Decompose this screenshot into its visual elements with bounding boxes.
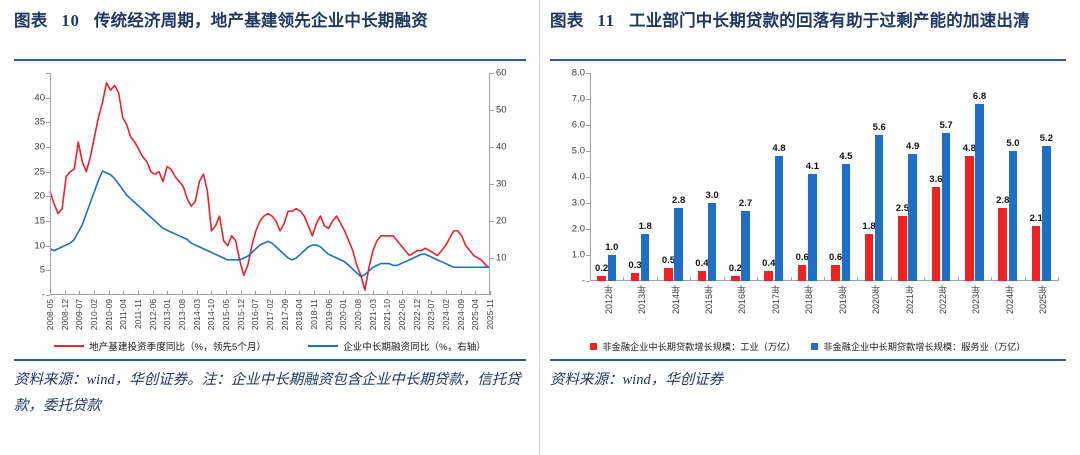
right-x-tick-label: 2020年 bbox=[869, 285, 882, 314]
right-legend-label: 非金融企业中长期贷款增长规模：工业（万亿） bbox=[602, 339, 795, 353]
left-x-tick bbox=[255, 291, 256, 295]
left-title-text: 传统经济周期，地产基建领先企业中长期融资 bbox=[94, 11, 428, 30]
left-x-tick-label: 2022-05 bbox=[397, 299, 407, 330]
bar-value-label: 0.6 bbox=[829, 252, 842, 263]
left-x-tick-label: 2016-07 bbox=[250, 299, 260, 330]
left-x-tick-group: 2008-052008-122009-072010-022010-092011-… bbox=[50, 295, 490, 337]
left-x-tick bbox=[109, 291, 110, 295]
left-y2-tick bbox=[490, 73, 494, 74]
left-y-tick bbox=[46, 221, 50, 222]
left-x-tick bbox=[490, 291, 491, 295]
right-y-tick bbox=[586, 229, 590, 230]
bar-value-label: 5.2 bbox=[1040, 133, 1053, 144]
right-x-tick-label: 2014年 bbox=[669, 285, 682, 314]
left-x-tick-label: 2025-11 bbox=[485, 299, 495, 330]
left-x-tick bbox=[299, 291, 300, 295]
table-bar-services bbox=[908, 154, 917, 281]
right-x-tick-group: 2012年2013年2014年2015年2016年2017年2018年2019年… bbox=[590, 281, 1058, 337]
left-x-tick bbox=[358, 291, 359, 295]
right-x-tick bbox=[791, 277, 792, 281]
right-y-tick bbox=[586, 73, 590, 74]
right-y-tick-label: 1.0 bbox=[572, 250, 585, 261]
bar-value-label: 1.8 bbox=[862, 221, 875, 232]
left-y-tick-label: 25 bbox=[34, 166, 45, 177]
right-y-tick bbox=[586, 203, 590, 204]
left-series-line-1 bbox=[50, 171, 490, 276]
right-x-tick bbox=[623, 277, 624, 281]
right-x-tick bbox=[724, 277, 725, 281]
right-y-tick-label: 6.0 bbox=[572, 120, 585, 131]
left-x-tick bbox=[446, 291, 447, 295]
right-x-tick-label: 2023年 bbox=[969, 285, 982, 314]
right-x-tick bbox=[757, 277, 758, 281]
bar-value-label: 2.5 bbox=[896, 203, 909, 214]
left-x-tick bbox=[314, 291, 315, 295]
left-x-tick-label: 2017-09 bbox=[280, 299, 290, 330]
left-x-tick-label: 2018-04 bbox=[294, 299, 304, 330]
right-y-tick bbox=[586, 125, 590, 126]
left-source-note: 资料来源：wind，华创证券。注：企业中长期融资包含企业中长期贷款，信托贷款，委… bbox=[14, 361, 526, 419]
table-bar-services bbox=[775, 156, 784, 281]
left-x-tick-label: 2011-04 bbox=[118, 299, 128, 330]
left-x-tick bbox=[197, 291, 198, 295]
left-x-tick-label: 2014-10 bbox=[206, 299, 216, 330]
table-bar-industry bbox=[932, 187, 941, 281]
left-y-tick-label: 40 bbox=[34, 92, 45, 103]
left-y-tick-label: 5 bbox=[40, 265, 45, 276]
bar-value-label: 0.6 bbox=[796, 252, 809, 263]
left-legend-item-0: 地产基建投资季度同比（%，领先5个月） bbox=[54, 339, 266, 353]
bar-value-label: 0.2 bbox=[729, 263, 742, 274]
left-x-tick bbox=[417, 291, 418, 295]
left-x-tick-label: 2023-07 bbox=[426, 299, 436, 330]
left-y-tick bbox=[46, 122, 50, 123]
left-x-tick-label: 2015-12 bbox=[236, 299, 246, 330]
right-y-tick-label: 3.0 bbox=[572, 198, 585, 209]
left-x-tick-label: 2008-12 bbox=[60, 299, 70, 330]
left-x-tick bbox=[153, 291, 154, 295]
bar-value-label: 0.4 bbox=[762, 258, 775, 269]
right-x-tick bbox=[1058, 277, 1059, 281]
left-x-tick bbox=[373, 291, 374, 295]
right-y-tick-label: 8.0 bbox=[572, 68, 585, 79]
left-x-tick-label: 2024-09 bbox=[456, 299, 466, 330]
bar-value-label: 5.6 bbox=[873, 122, 886, 133]
right-x-tick-label: 2018年 bbox=[802, 285, 815, 314]
left-x-tick-label: 2020-08 bbox=[353, 299, 363, 330]
left-y-tick bbox=[46, 196, 50, 197]
left-y2-tick bbox=[490, 258, 494, 259]
left-x-tick-label: 2022-12 bbox=[412, 299, 422, 330]
table-bar-industry bbox=[898, 216, 907, 281]
legend-square-swatch bbox=[590, 343, 597, 350]
left-y2-tick-label: 20 bbox=[496, 215, 507, 226]
right-bar-chart-plot: -1.02.03.04.05.06.07.08.02012年2013年2014年… bbox=[590, 73, 1058, 281]
left-x-tick-label: 2008-05 bbox=[45, 299, 55, 330]
bar-value-label: 4.1 bbox=[806, 161, 819, 172]
left-y-tick-label: 15 bbox=[34, 215, 45, 226]
left-line-chart-svg bbox=[50, 73, 490, 295]
right-chart-legend: 非金融企业中长期贷款增长规模：工业（万亿）非金融企业中长期贷款增长规模：服务业（… bbox=[550, 339, 1066, 353]
left-title-divider bbox=[14, 59, 526, 61]
right-y-tick-label: 7.0 bbox=[572, 94, 585, 105]
table-bar-services bbox=[975, 104, 984, 281]
left-series-line-0 bbox=[50, 83, 490, 290]
table-bar-industry bbox=[597, 276, 606, 281]
left-x-tick bbox=[343, 291, 344, 295]
table-bar-services bbox=[608, 255, 617, 281]
right-chart-area: -1.02.03.04.05.06.07.08.02012年2013年2014年… bbox=[550, 67, 1066, 337]
left-x-tick bbox=[65, 291, 66, 295]
table-bar-services bbox=[1042, 146, 1051, 281]
right-x-tick-label: 2021年 bbox=[903, 285, 916, 314]
left-y-tick bbox=[46, 270, 50, 271]
left-x-tick bbox=[182, 291, 183, 295]
bar-value-label: 2.8 bbox=[996, 195, 1009, 206]
right-x-tick bbox=[991, 277, 992, 281]
left-chart-legend: 地产基建投资季度同比（%，领先5个月）企业中长期融资同比（%，右轴） bbox=[14, 339, 526, 353]
table-bar-services bbox=[875, 135, 884, 281]
left-x-tick-label: 2013-08 bbox=[177, 299, 187, 330]
left-x-tick-label: 2017-02 bbox=[265, 299, 275, 330]
left-y2-tick bbox=[490, 110, 494, 111]
left-x-tick-label: 2018-11 bbox=[309, 299, 319, 330]
left-x-tick bbox=[461, 291, 462, 295]
right-x-tick-label: 2012年 bbox=[602, 285, 615, 314]
left-x-tick bbox=[138, 291, 139, 295]
left-x-tick bbox=[329, 291, 330, 295]
right-y-tick bbox=[586, 255, 590, 256]
bar-value-label: 4.9 bbox=[906, 141, 919, 152]
left-y-axis bbox=[50, 73, 51, 295]
left-x-tick-label: 2010-09 bbox=[104, 299, 114, 330]
right-y-tick bbox=[586, 99, 590, 100]
left-x-tick-label: 2021-10 bbox=[382, 299, 392, 330]
figure-pair-page: 图表10传统经济周期，地产基建领先企业中长期融资 -51015202530354… bbox=[0, 0, 1080, 455]
left-y2-tick bbox=[490, 147, 494, 148]
left-y2-tick-label: 50 bbox=[496, 104, 507, 115]
right-x-tick bbox=[1025, 277, 1026, 281]
left-x-tick bbox=[475, 291, 476, 295]
bar-value-label: 1.8 bbox=[639, 221, 652, 232]
left-y-tick bbox=[46, 73, 50, 74]
left-x-tick-label: 2021-03 bbox=[368, 299, 378, 330]
left-x-tick-label: 2014-03 bbox=[192, 299, 202, 330]
right-x-tick bbox=[590, 277, 591, 281]
right-x-tick bbox=[657, 277, 658, 281]
bar-value-label: 0.3 bbox=[628, 260, 641, 271]
table-bar-services bbox=[741, 211, 750, 281]
right-x-tick-label: 2017年 bbox=[769, 285, 782, 314]
left-legend-item-1: 企业中长期融资同比（%，右轴） bbox=[308, 339, 486, 353]
table-bar-services bbox=[808, 174, 817, 281]
left-y-tick bbox=[46, 147, 50, 148]
left-y-tick-label: 20 bbox=[34, 191, 45, 202]
right-title-divider bbox=[550, 59, 1066, 61]
left-x-tick-label: 2015-05 bbox=[221, 299, 231, 330]
left-x-tick bbox=[79, 291, 80, 295]
right-x-tick bbox=[690, 277, 691, 281]
right-source-note: 资料来源：wind，华创证券 bbox=[550, 361, 1066, 393]
left-x-tick bbox=[402, 291, 403, 295]
table-bar-services bbox=[674, 208, 683, 281]
left-x-tick-label: 2019-06 bbox=[324, 299, 334, 330]
right-y-tick-label: - bbox=[582, 276, 585, 287]
left-x-tick bbox=[211, 291, 212, 295]
left-legend-label: 地产基建投资季度同比（%，领先5个月） bbox=[89, 339, 266, 353]
bar-value-label: 2.7 bbox=[739, 198, 752, 209]
right-legend-item-0: 非金融企业中长期贷款增长规模：工业（万亿） bbox=[590, 339, 795, 353]
table-bar-industry bbox=[731, 276, 740, 281]
left-y-tick bbox=[46, 246, 50, 247]
table-bar-industry bbox=[865, 234, 874, 281]
left-y-tick bbox=[46, 172, 50, 173]
table-bar-industry bbox=[1032, 226, 1041, 281]
right-y-axis bbox=[590, 73, 591, 281]
left-x-tick-label: 2009-07 bbox=[74, 299, 84, 330]
table-bar-industry bbox=[698, 271, 707, 281]
left-y2-tick bbox=[490, 184, 494, 185]
right-figure-title: 图表11工业部门中长期贷款的回落有助于过剩产能的加速出清 bbox=[550, 0, 1066, 58]
left-x-tick bbox=[226, 291, 227, 295]
right-x-tick bbox=[958, 277, 959, 281]
table-bar-industry bbox=[631, 273, 640, 281]
right-x-tick-label: 2015年 bbox=[702, 285, 715, 314]
left-y-tick-label: 10 bbox=[34, 240, 45, 251]
left-y2-tick-label: 40 bbox=[496, 141, 507, 152]
left-x-tick-label: 2020-01 bbox=[338, 299, 348, 330]
left-x-tick-label: 2010-02 bbox=[89, 299, 99, 330]
right-title-text: 工业部门中长期贷款的回落有助于过剩产能的加速出清 bbox=[629, 11, 1030, 30]
table-bar-industry bbox=[798, 265, 807, 281]
right-y-tick bbox=[586, 177, 590, 178]
left-line-chart-plot: -5101520253035401020304050602008-052008-… bbox=[50, 73, 490, 295]
right-x-tick bbox=[824, 277, 825, 281]
left-figure-title: 图表10传统经济周期，地产基建领先企业中长期融资 bbox=[14, 0, 526, 58]
right-x-tick bbox=[891, 277, 892, 281]
legend-line-swatch bbox=[54, 345, 84, 348]
table-bar-services bbox=[942, 133, 951, 281]
table-bar-services bbox=[842, 164, 851, 281]
right-y-tick-label: 5.0 bbox=[572, 146, 585, 157]
table-bar-industry bbox=[764, 271, 773, 281]
left-x-tick bbox=[167, 291, 168, 295]
right-legend-item-1: 非金融企业中长期贷款增长规模：服务业（万亿） bbox=[811, 339, 1025, 353]
right-y-tick bbox=[586, 151, 590, 152]
bar-value-label: 0.5 bbox=[662, 255, 675, 266]
left-x-tick bbox=[94, 291, 95, 295]
left-x-tick bbox=[431, 291, 432, 295]
left-y-tick bbox=[46, 98, 50, 99]
table-bar-industry bbox=[965, 156, 974, 281]
left-title-number: 10 bbox=[61, 11, 80, 30]
left-x-tick bbox=[285, 291, 286, 295]
right-legend-label: 非金融企业中长期贷款增长规模：服务业（万亿） bbox=[823, 339, 1025, 353]
left-x-tick-label: 2025-04 bbox=[470, 299, 480, 330]
bar-value-label: 5.0 bbox=[1006, 138, 1019, 149]
right-title-prefix: 图表 bbox=[550, 11, 583, 30]
right-x-tick-label: 2016年 bbox=[735, 285, 748, 314]
left-x-tick-label: 2012-06 bbox=[148, 299, 158, 330]
left-figure-panel: 图表10传统经济周期，地产基建领先企业中长期融资 -51015202530354… bbox=[0, 0, 540, 455]
right-y-tick-label: 4.0 bbox=[572, 172, 585, 183]
right-x-tick-label: 2019年 bbox=[836, 285, 849, 314]
left-x-tick bbox=[241, 291, 242, 295]
right-x-tick-label: 2013年 bbox=[635, 285, 648, 314]
bar-value-label: 0.4 bbox=[695, 258, 708, 269]
bar-value-label: 1.0 bbox=[605, 242, 618, 253]
bar-value-label: 4.5 bbox=[839, 151, 852, 162]
right-x-tick-label: 2024年 bbox=[1003, 285, 1016, 314]
left-y2-tick bbox=[490, 221, 494, 222]
left-x-tick bbox=[123, 291, 124, 295]
table-bar-industry bbox=[998, 208, 1007, 281]
left-y2-tick-label: 30 bbox=[496, 179, 507, 190]
right-title-number: 11 bbox=[597, 11, 615, 30]
right-x-tick bbox=[924, 277, 925, 281]
left-x-tick bbox=[387, 291, 388, 295]
left-y2-tick-label: 10 bbox=[496, 253, 507, 264]
bar-value-label: 3.0 bbox=[705, 190, 718, 201]
table-bar-industry bbox=[664, 268, 673, 281]
bar-value-label: 2.1 bbox=[1030, 213, 1043, 224]
right-figure-panel: 图表11工业部门中长期贷款的回落有助于过剩产能的加速出清 -1.02.03.04… bbox=[540, 0, 1080, 455]
table-bar-services bbox=[1009, 151, 1018, 281]
table-bar-services bbox=[708, 203, 717, 281]
right-y-tick-label: 2.0 bbox=[572, 224, 585, 235]
bar-value-label: 4.8 bbox=[772, 143, 785, 154]
left-x-tick-label: 2024-02 bbox=[441, 299, 451, 330]
left-legend-label: 企业中长期融资同比（%，右轴） bbox=[343, 339, 486, 353]
left-chart-area: -5101520253035401020304050602008-052008-… bbox=[14, 67, 526, 337]
legend-line-swatch bbox=[308, 345, 338, 348]
table-bar-services bbox=[641, 234, 650, 281]
bar-value-label: 4.8 bbox=[963, 143, 976, 154]
left-title-prefix: 图表 bbox=[14, 11, 47, 30]
left-x-tick bbox=[50, 291, 51, 295]
left-x-tick-label: 2011-11 bbox=[133, 299, 143, 329]
left-y-tick-label: 35 bbox=[34, 117, 45, 128]
left-y-tick-label: 30 bbox=[34, 141, 45, 152]
right-x-tick-label: 2025年 bbox=[1036, 285, 1049, 314]
right-x-tick-label: 2022年 bbox=[936, 285, 949, 314]
left-x-tick bbox=[270, 291, 271, 295]
bar-value-label: 6.8 bbox=[973, 91, 986, 102]
left-y2-tick-label: 60 bbox=[496, 68, 507, 79]
legend-square-swatch bbox=[811, 343, 818, 350]
bar-value-label: 3.6 bbox=[929, 174, 942, 185]
table-bar-industry bbox=[831, 265, 840, 281]
bar-value-label: 0.2 bbox=[595, 263, 608, 274]
left-x-tick-label: 2013-01 bbox=[162, 299, 172, 330]
bar-value-label: 2.8 bbox=[672, 195, 685, 206]
bar-value-label: 5.7 bbox=[939, 120, 952, 131]
right-x-tick bbox=[857, 277, 858, 281]
